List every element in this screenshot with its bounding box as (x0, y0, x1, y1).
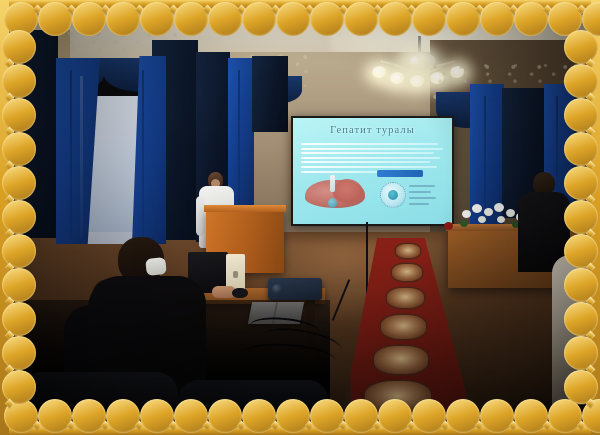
liver-anatomy-icon (303, 174, 369, 214)
attendee-far-right-body (552, 255, 600, 405)
projection-screen: Гепатит туралы (291, 116, 454, 226)
laptop-marking (233, 271, 238, 278)
slide-title: Гепатит туралы (293, 125, 452, 136)
podium-top (204, 205, 286, 212)
photograph: Гепатит туралы (0, 0, 600, 435)
chair (18, 372, 178, 435)
presentation-slide: Гепатит туралы (293, 118, 452, 224)
projector-lens-icon (272, 284, 282, 294)
slide-body-text (301, 143, 444, 171)
hepatitis-infographic (375, 170, 439, 216)
face-mask-icon (145, 257, 167, 276)
virus-icon (380, 182, 406, 208)
presenter-arm (196, 196, 205, 236)
computer-mouse (232, 288, 248, 298)
chair (178, 380, 328, 435)
